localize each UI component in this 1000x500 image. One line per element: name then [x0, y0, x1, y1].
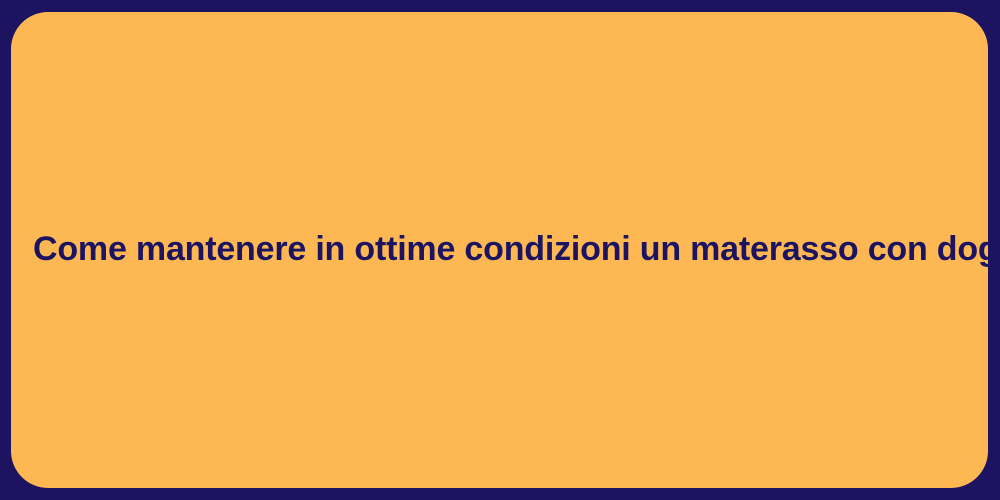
faq-card-frame: Come mantenere in ottime condizioni un m…	[0, 0, 1000, 500]
faq-question-title: Come mantenere in ottime condizioni un m…	[33, 230, 1000, 269]
faq-card-panel: Come mantenere in ottime condizioni un m…	[11, 12, 988, 488]
